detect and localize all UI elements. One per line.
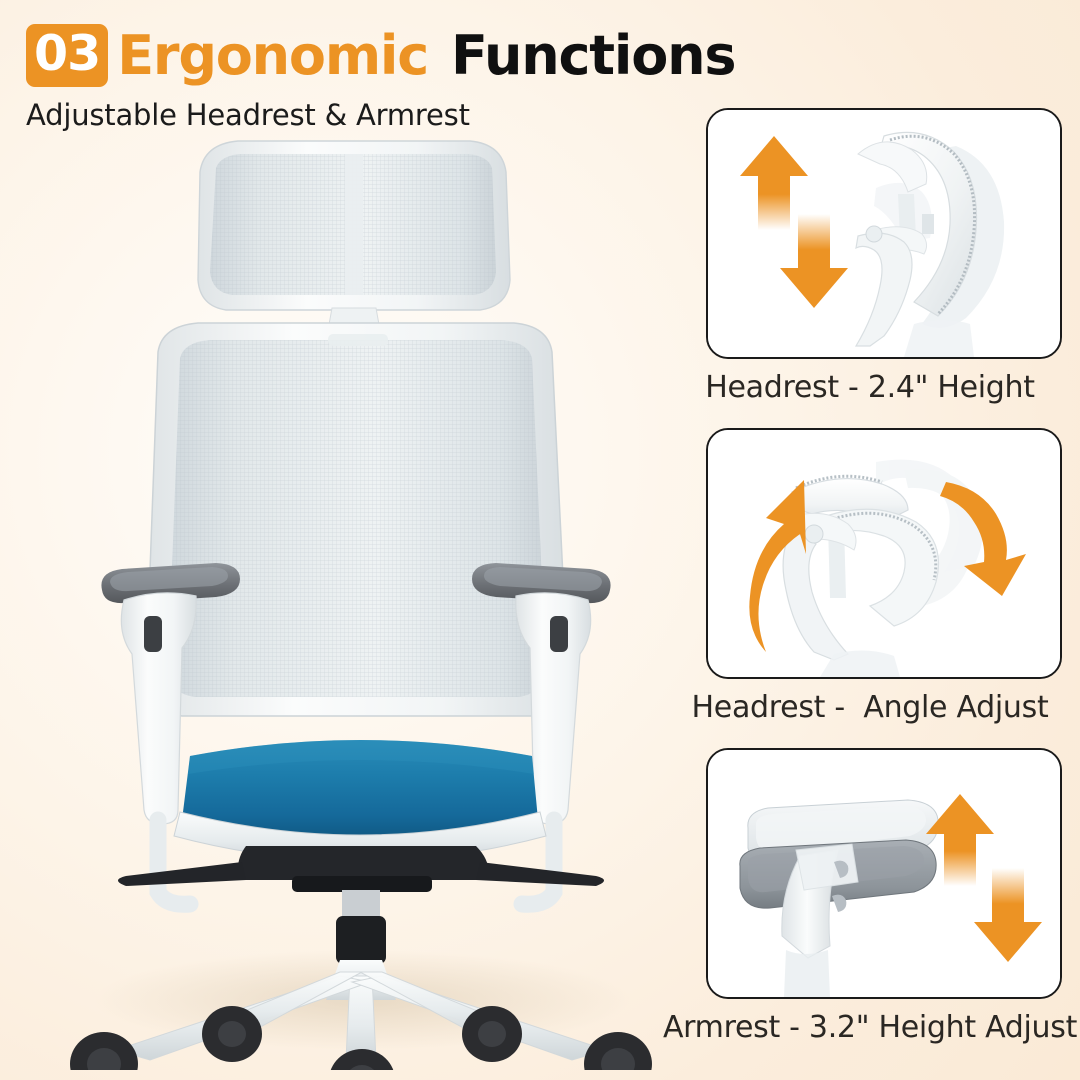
feature-card-headrest-angle [706, 428, 1062, 679]
feature-card-headrest-height [706, 108, 1062, 359]
infographic-canvas: 03 Ergonomic Functions Adjustable Headre… [0, 0, 1080, 1080]
seat-cushion [174, 740, 546, 861]
tilt-mechanism [118, 846, 604, 892]
product-image-office-chair [40, 120, 680, 1070]
headrest [198, 141, 510, 335]
backrest [146, 323, 568, 716]
feature-caption-armrest-height: Armrest - 3.2" Height Adjust [660, 1010, 1080, 1045]
feature-card-armrest-height [706, 748, 1062, 999]
page-title: 03 Ergonomic Functions [26, 24, 735, 87]
title-rest-text: Functions [451, 29, 735, 83]
step-number-badge: 03 [26, 24, 108, 87]
headrest-center-bar [345, 154, 363, 295]
armrest-height-button-left [144, 616, 162, 652]
armrest-height-button-right [550, 616, 568, 652]
title-accent-text: Ergonomic [117, 29, 428, 83]
header: 03 Ergonomic Functions Adjustable Headre… [26, 24, 735, 132]
gas-cylinder [336, 890, 386, 964]
feature-caption-headrest-height: Headrest - 2.4" Height [660, 370, 1080, 405]
feature-caption-headrest-angle: Headrest - Angle Adjust [660, 690, 1080, 725]
